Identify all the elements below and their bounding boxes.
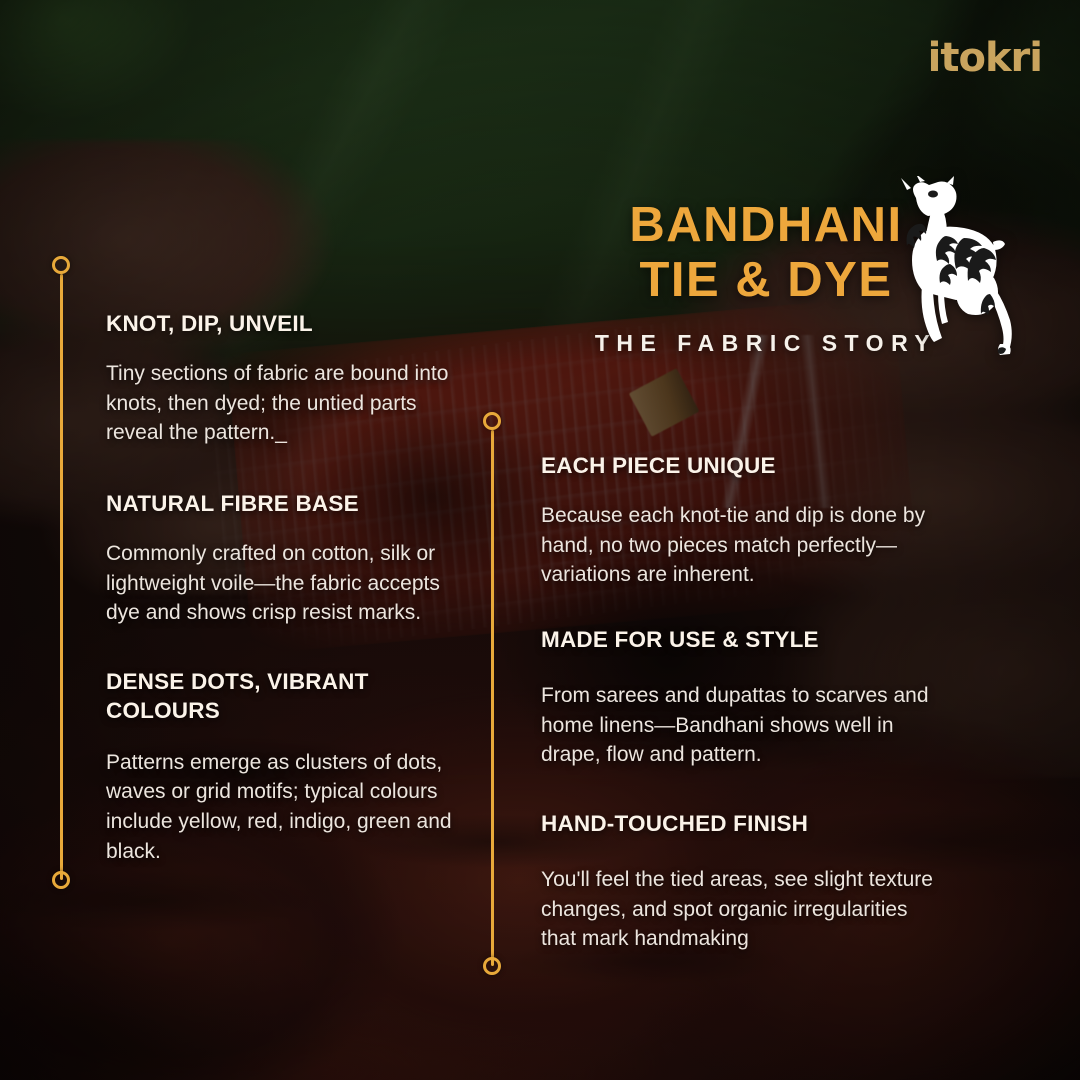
left-block-2-heading: NATURAL FIBRE BASE (106, 490, 478, 519)
right-timeline-rail (491, 430, 494, 966)
left-block-1-body: Tiny sections of fabric are bound into k… (106, 359, 478, 448)
right-block-1-body: Because each knot-tie and dip is done by… (541, 501, 941, 590)
itokri-logo[interactable]: itokri (928, 38, 1042, 78)
left-rail-top-dot (52, 256, 70, 274)
left-block-3: DENSE DOTS, VIBRANT COLOURS Patterns eme… (106, 668, 478, 867)
right-block-3-body: You'll feel the tied areas, see slight t… (541, 865, 941, 954)
left-timeline-rail (60, 274, 63, 880)
right-block-1: EACH PIECE UNIQUE Because each knot-tie … (541, 452, 941, 590)
left-block-1-heading: KNOT, DIP, UNVEIL (106, 310, 478, 339)
right-rail-top-dot (483, 412, 501, 430)
left-block-2: NATURAL FIBRE BASE Commonly crafted on c… (106, 490, 478, 628)
right-block-1-heading: EACH PIECE UNIQUE (541, 452, 941, 481)
infographic-poster: itokri BANDHANI TIE & DYE THE FABRIC STO… (0, 0, 1080, 1080)
right-rail-bottom-dot (483, 957, 501, 975)
right-block-3-heading: HAND-TOUCHED FINISH (541, 810, 941, 839)
logo-wordmark: itokri (928, 38, 1042, 78)
right-block-3: HAND-TOUCHED FINISH You'll feel the tied… (541, 810, 941, 954)
left-rail-bottom-dot (52, 871, 70, 889)
right-block-2: MADE FOR USE & STYLE From sarees and dup… (541, 626, 941, 770)
left-block-3-heading: DENSE DOTS, VIBRANT COLOURS (106, 668, 478, 726)
left-block-2-body: Commonly crafted on cotton, silk or ligh… (106, 539, 478, 628)
left-block-1: KNOT, DIP, UNVEIL Tiny sections of fabri… (106, 310, 478, 448)
goat-illustration (898, 176, 1020, 356)
foreground-content: itokri BANDHANI TIE & DYE THE FABRIC STO… (0, 0, 1080, 1080)
right-block-2-body: From sarees and dupattas to scarves and … (541, 681, 941, 770)
left-block-3-body: Patterns emerge as clusters of dots, wav… (106, 748, 478, 867)
right-block-2-heading: MADE FOR USE & STYLE (541, 626, 941, 655)
